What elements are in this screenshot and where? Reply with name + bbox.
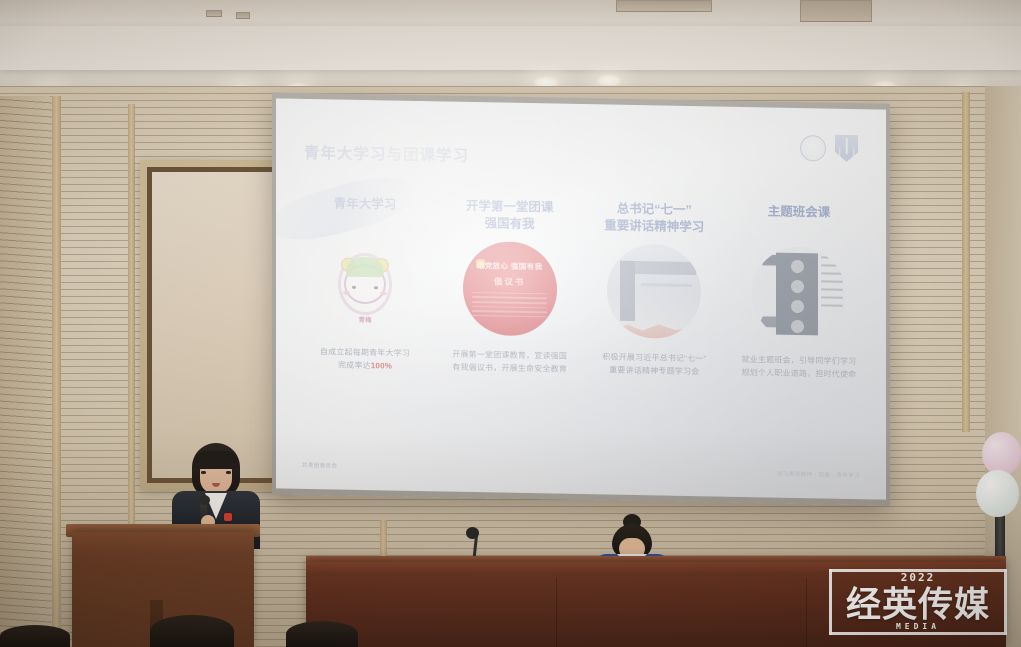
column-2-caption-line2: 有我倡议书，开展生命安全教育 <box>452 362 567 373</box>
slide-footer-right: 学习贯彻精神 · 团委 · 青年学习 <box>777 470 860 480</box>
column-2-title-line2: 强国有我 <box>485 216 535 231</box>
ceiling-vent <box>800 0 872 22</box>
pledge-body-lines <box>472 292 547 321</box>
mascot-eye-left <box>352 286 356 289</box>
slatted-wall-left <box>0 96 60 647</box>
mascot-hat <box>346 257 384 278</box>
presenter-red-badge <box>224 513 232 521</box>
presentation-slide: 青年大学习与团课学习 青年大学习 <box>276 98 886 499</box>
room-audience <box>613 319 696 339</box>
microphone-head <box>199 495 210 505</box>
column-3-caption-line2: 重要讲话精神专题学习会 <box>609 365 699 376</box>
column-4-title: 主题班会课 <box>768 203 831 238</box>
red-pledge-document-icon: 跟党放心 强国有我 倡议书 <box>463 241 557 337</box>
column-4-image <box>752 246 846 342</box>
ceiling-vent <box>236 12 250 19</box>
room-pillar <box>620 261 635 321</box>
column-1-caption-highlight: 100% <box>371 361 392 370</box>
column-4-caption-line2: 规划个人职业道路，担时代使命 <box>742 368 857 379</box>
pledge-heading: 跟党放心 强国有我 <box>463 260 557 273</box>
column-1-title: 青年大学习 <box>334 195 397 230</box>
table-seam <box>556 578 557 647</box>
gooseneck-microphone-head <box>466 527 479 539</box>
column-3-caption-line1: 积极开展习近平总书记“七一” <box>602 352 706 363</box>
mascot-label: 青梅 <box>318 313 412 325</box>
ceiling-vent <box>206 10 222 17</box>
media-watermark: 2022 经英传媒 MEDIA <box>829 569 1007 635</box>
column-2-title-line1: 开学第一堂团课 <box>466 199 554 215</box>
app-screenshot-icon <box>752 246 846 342</box>
slide-columns: 青年大学习 青梅 <box>294 195 870 382</box>
framed-panel-inner <box>147 167 285 483</box>
column-2-caption: 开展第一堂团课教育，宣读强国 有我倡议书，开展生命安全教育 <box>452 349 567 377</box>
column-1-caption-line2-pre: 完成率达 <box>338 360 371 370</box>
mascot-cheek-left <box>343 290 350 294</box>
presenter-fringe <box>193 451 239 469</box>
table-seam <box>806 578 807 647</box>
column-3-title-line1: 总书记“七一” <box>617 202 692 217</box>
slide-column-3: 总书记“七一” 重要讲话精神学习 积极开展习近平总书记“七一” 重要 <box>583 200 725 379</box>
meeting-room-photo-icon <box>607 243 701 339</box>
wall-post <box>52 96 61 647</box>
column-4-caption: 就业主题班会，引导同学们学习 规划个人职业道路，担时代使命 <box>742 354 857 382</box>
lecture-hall-photo: 青年大学习与团课学习 青年大学习 <box>0 0 1021 647</box>
column-3-caption: 积极开展习近平总书记“七一” 重要讲话精神专题学习会 <box>602 351 706 379</box>
ceiling-soffit <box>0 26 1021 70</box>
white-balloon <box>976 470 1019 517</box>
pink-balloon <box>982 432 1021 476</box>
wall-post <box>962 92 970 432</box>
audience-head <box>286 621 358 647</box>
room-panel <box>641 284 692 288</box>
slide-title: 青年大学习与团课学习 <box>304 141 469 166</box>
slide-footer-left: 共青团委员会 <box>302 461 337 470</box>
column-3-title-line2: 重要讲话精神学习 <box>604 218 704 234</box>
column-3-title: 总书记“七一” 重要讲话精神学习 <box>604 200 704 236</box>
slide-column-4: 主题班会课 <box>728 203 870 382</box>
audience-head <box>0 625 70 647</box>
pledge-subheading: 倡议书 <box>463 275 557 289</box>
watermark-title: 经英传媒 <box>846 577 990 628</box>
presenter-eye-right <box>226 471 231 474</box>
column-1-image: 青梅 <box>318 238 412 334</box>
column-2-image: 跟党放心 强国有我 倡议书 <box>463 241 557 337</box>
column-4-caption-line1: 就业主题班会，引导同学们学习 <box>742 355 857 366</box>
slide-logos <box>800 134 858 162</box>
university-shield-icon <box>835 135 858 162</box>
audience-head <box>150 615 234 647</box>
circular-emblem-icon <box>800 135 826 161</box>
mascot-illustration-icon: 青梅 <box>318 238 412 334</box>
column-3-image <box>607 243 701 339</box>
app-text-rows <box>821 257 844 313</box>
column-1-caption-line1: 自成立起每期青年大学习 <box>320 347 410 358</box>
presenter-eye-left <box>201 471 206 474</box>
column-2-title: 开学第一堂团课 强国有我 <box>466 198 554 234</box>
ceiling-projector-mount <box>616 0 712 12</box>
column-1-caption: 自成立起每期青年大学习 完成率达100% <box>320 346 410 373</box>
watermark-subtitle: MEDIA <box>896 622 940 631</box>
wall-framed-panel <box>140 160 292 490</box>
app-icon-column <box>776 252 817 335</box>
mascot-eye-right <box>374 286 378 289</box>
column-2-caption-line1: 开展第一堂团课教育，宣读强国 <box>452 350 567 361</box>
mascot-cheek-right <box>380 291 387 295</box>
slide-column-1: 青年大学习 青梅 <box>294 195 436 374</box>
projection-screen[interactable]: 青年大学习与团课学习 青年大学习 <box>276 98 886 499</box>
slide-column-2: 开学第一堂团课 强国有我 跟党放心 强国有我 倡议书 <box>439 197 581 376</box>
